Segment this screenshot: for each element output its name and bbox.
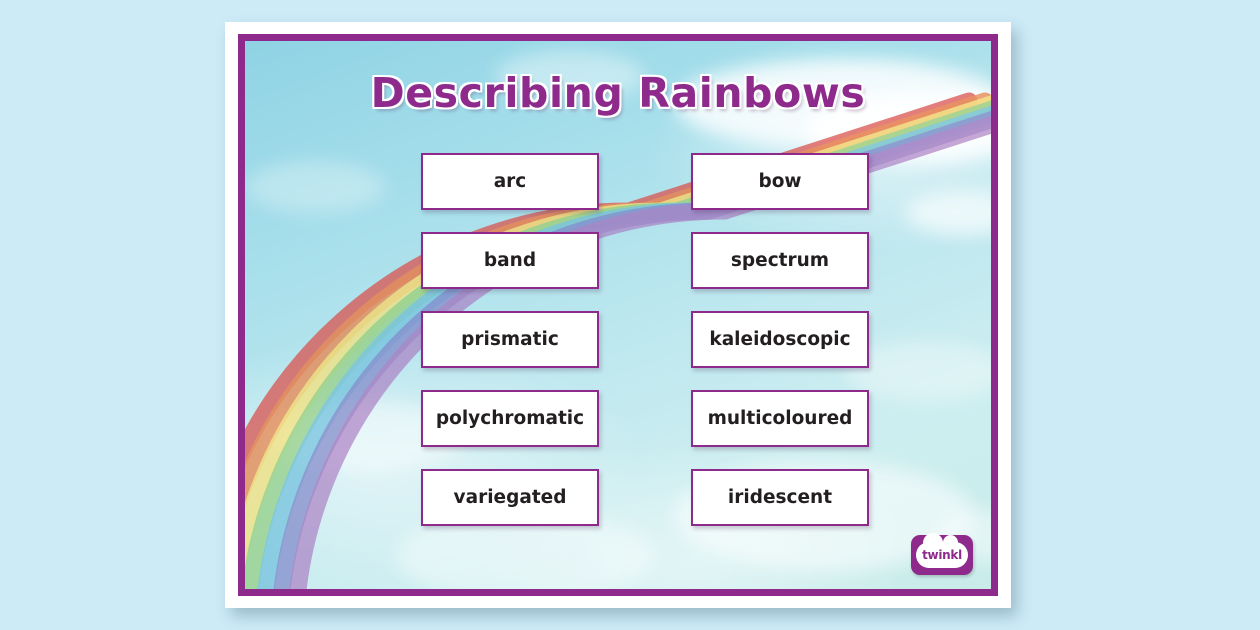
word-card-kaleidoscopic[interactable]: kaleidoscopic (691, 311, 869, 368)
word-label: prismatic (461, 329, 559, 350)
twinkl-logo-label: twinkl (916, 542, 968, 568)
word-label: kaleidoscopic (709, 329, 850, 350)
word-label: polychromatic (436, 408, 584, 429)
word-card-band[interactable]: band (421, 232, 599, 289)
word-card-prismatic[interactable]: prismatic (421, 311, 599, 368)
word-column-left: arc band prismatic polychromatic variega… (421, 153, 599, 526)
word-label: iridescent (728, 487, 832, 508)
poster-border: Describing Rainbows arc band prismatic p… (238, 34, 998, 596)
word-card-bow[interactable]: bow (691, 153, 869, 210)
screenshot-canvas: Describing Rainbows arc band prismatic p… (0, 0, 1260, 630)
word-card-spectrum[interactable]: spectrum (691, 232, 869, 289)
word-label: spectrum (731, 250, 829, 271)
word-column-right: bow spectrum kaleidoscopic multicoloured… (691, 153, 869, 526)
word-label: variegated (454, 487, 567, 508)
word-card-polychromatic[interactable]: polychromatic (421, 390, 599, 447)
word-card-grid: arc band prismatic polychromatic variega… (245, 153, 991, 553)
twinkl-logo[interactable]: twinkl (911, 535, 973, 575)
word-label: bow (758, 171, 801, 192)
word-card-arc[interactable]: arc (421, 153, 599, 210)
word-label: multicoloured (708, 408, 853, 429)
word-card-iridescent[interactable]: iridescent (691, 469, 869, 526)
word-card-variegated[interactable]: variegated (421, 469, 599, 526)
word-label: arc (494, 171, 527, 192)
word-label: band (484, 250, 536, 271)
page-title: Describing Rainbows (245, 69, 991, 117)
word-card-multicoloured[interactable]: multicoloured (691, 390, 869, 447)
